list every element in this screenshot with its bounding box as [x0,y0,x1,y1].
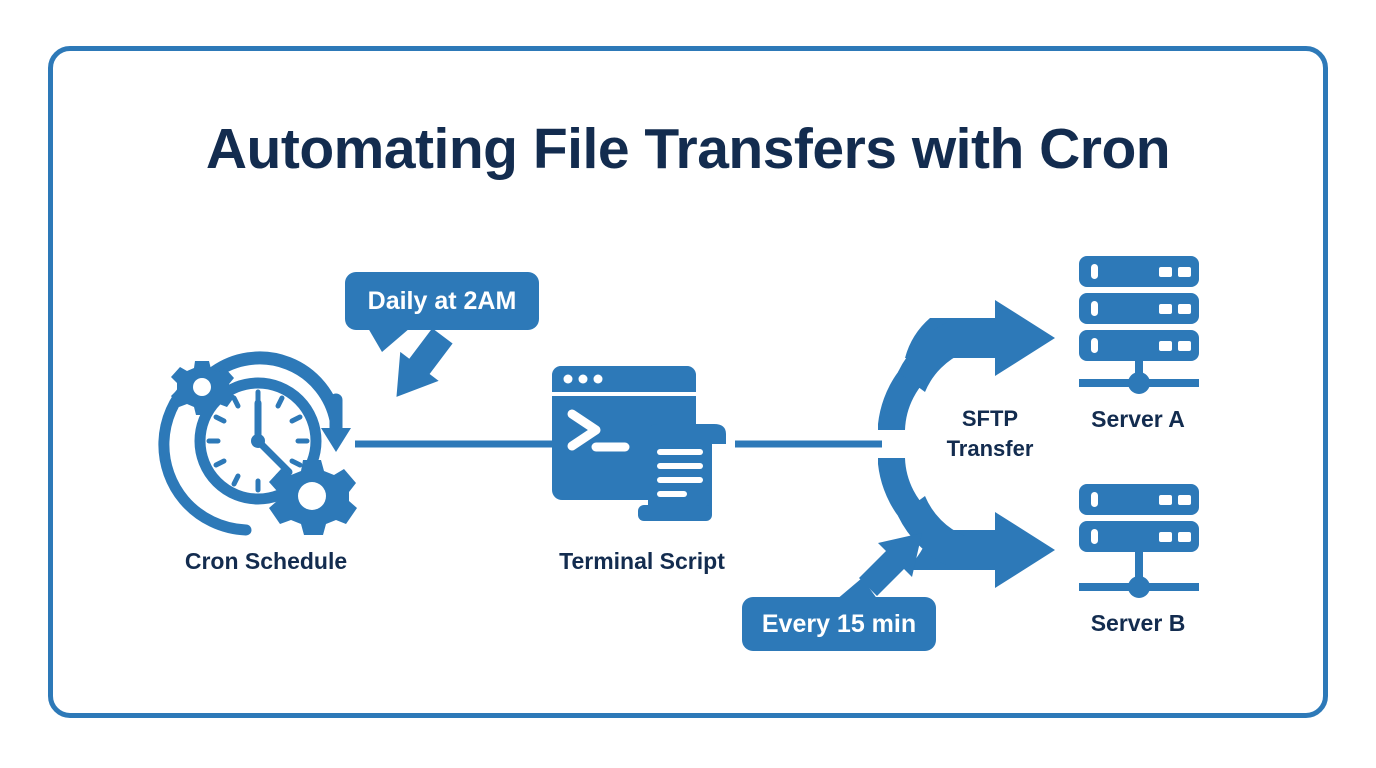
caption-cron-schedule: Cron Schedule [96,548,436,575]
server-rack-icon-a [1079,256,1199,394]
caption-server-a: Server A [1008,406,1268,433]
callout-every-label: Every 15 min [762,610,916,639]
sftp-label-line2: Transfer [900,434,1080,464]
every-callout-arrow [859,533,922,596]
daily-callout-tail [368,328,410,352]
server-rack-icon-b [1079,484,1199,598]
caption-terminal-script: Terminal Script [472,548,812,575]
caption-server-b: Server B [1008,610,1268,637]
infographic-canvas: Automating File Transfers with Cron [0,0,1376,768]
callout-daily-label: Daily at 2AM [368,287,517,316]
gear-large-icon [269,460,357,535]
terminal-script-icon [552,366,726,521]
diagram-graphics [0,0,1376,768]
callout-every-15-min[interactable]: Every 15 min [742,597,936,651]
clock-gears-icon [164,358,357,535]
callout-daily-at-2am[interactable]: Daily at 2AM [345,272,539,330]
